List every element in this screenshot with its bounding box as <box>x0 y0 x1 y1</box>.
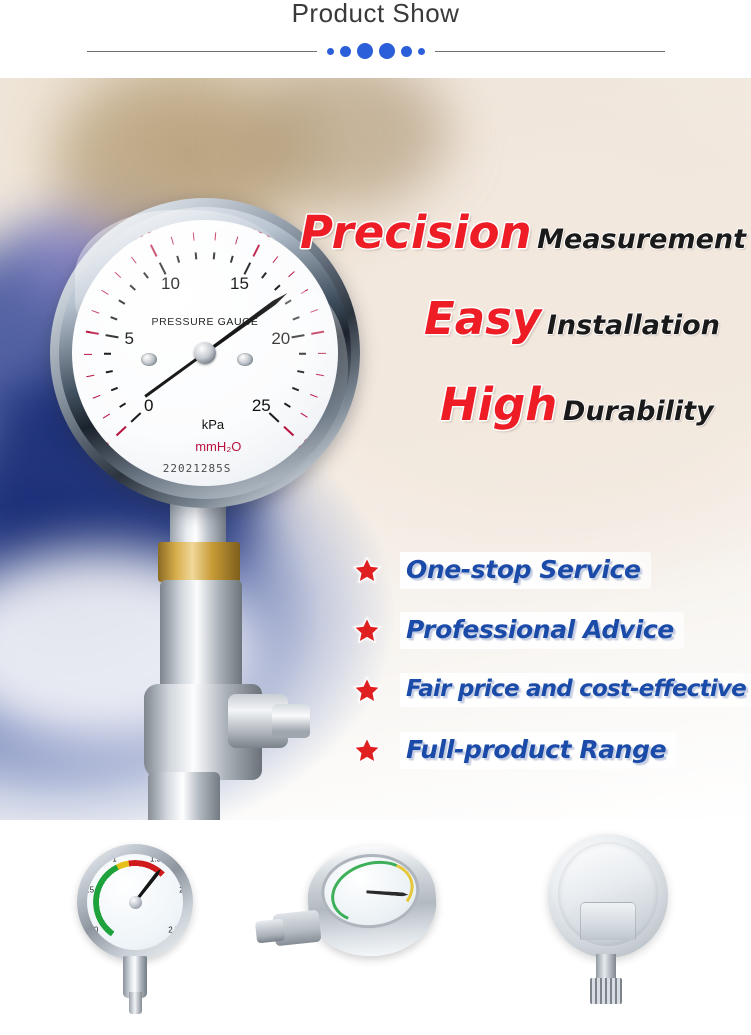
thumb1-scale-value: 2 <box>179 886 183 895</box>
feature-bullet-item: One-stop Service <box>352 540 751 600</box>
gauge-face: 051015202505001000150020002500 PRESSURE … <box>72 220 338 486</box>
feature-bullet-banner: Professional Advice <box>400 612 684 649</box>
headline-3-weak: Durability <box>563 396 714 427</box>
gauge-scale-value: 0 <box>144 396 153 416</box>
gauge-screw-left <box>141 353 157 366</box>
gauge-scale-value: 5 <box>124 329 133 349</box>
gauge-scale-value: 2000 <box>328 310 338 348</box>
feature-bullet-list: One-stop Service Professional Advice Fai… <box>352 540 751 780</box>
product-thumbnail-strip: 00.511.522.5 <box>0 820 751 1035</box>
thumb2-connector-tip <box>255 919 285 944</box>
thumb3-case <box>548 834 668 958</box>
divider-dot-1 <box>327 48 334 55</box>
page-header: Product Show <box>0 0 751 78</box>
valve-brass-hex <box>158 542 240 582</box>
star-icon <box>352 736 382 765</box>
thumb1-scale-value: 1.5 <box>150 854 161 863</box>
thumbnail-angled-view-gauge[interactable] <box>258 820 488 1035</box>
valve-stem <box>148 772 220 820</box>
feature-bullet-label: One-stop Service <box>406 555 641 584</box>
gauge-scale-value: 25 <box>252 396 271 416</box>
thumb1-scale-value: 0.5 <box>87 886 94 895</box>
gauge-unit-primary: kPa <box>202 417 224 432</box>
valve-body <box>136 498 286 820</box>
feature-bullet-item: Professional Advice <box>352 600 751 660</box>
divider-dot-5 <box>401 46 412 57</box>
feature-bullet-banner: Full-product Range <box>400 732 676 769</box>
thumb2-case <box>304 842 439 961</box>
feature-bullet-banner: Fair price and cost-effective <box>400 673 751 707</box>
feature-bullet-label: Professional Advice <box>406 615 674 644</box>
headline-1-strong: Precision <box>300 206 532 259</box>
feature-bullet-label: Fair price and cost-effective <box>406 676 746 702</box>
thumb1-scale-value: 0 <box>94 926 98 935</box>
headline-2-strong: Easy <box>424 292 541 345</box>
thumb1-scale-value: 2.5 <box>168 926 179 935</box>
headline-3-strong: High <box>440 378 557 431</box>
gauge-needle-hub <box>194 342 216 364</box>
gauge-scale-value: 15 <box>230 274 249 294</box>
thumb1-hub <box>129 896 142 909</box>
divider-rule-right <box>435 51 665 52</box>
thumb1-connector-tip <box>129 992 142 1014</box>
thumbnail-rear-view-gauge[interactable] <box>492 820 722 1035</box>
gauge-scale-value: 500 <box>72 314 81 343</box>
thumb2-face <box>319 851 422 932</box>
divider-dot-2 <box>340 46 351 57</box>
feature-bullet-item: Fair price and cost-effective <box>352 660 751 720</box>
star-icon <box>352 616 382 645</box>
feature-bullet-item: Full-product Range <box>352 720 751 780</box>
thumb1-face: 00.511.522.5 <box>87 854 183 950</box>
headline-easy: Easy Installation <box>424 296 720 341</box>
gauge-screw-right <box>237 353 253 366</box>
headline-1-weak: Measurement <box>537 224 746 255</box>
thumb3-threaded-nut <box>590 978 622 1004</box>
star-icon <box>352 676 382 705</box>
thumbnail-front-view-gauge[interactable]: 00.511.522.5 <box>25 820 255 1035</box>
gauge-scale-value: 20 <box>271 329 290 349</box>
feature-bullet-label: Full-product Range <box>406 735 666 764</box>
valve-upper-body <box>160 580 242 698</box>
headline-precision: Precision Measurement <box>300 210 746 255</box>
gauge-scale-value: 10 <box>161 274 180 294</box>
feature-bullet-banner: One-stop Service <box>400 552 651 589</box>
thumb1-scale-value: 1 <box>112 854 116 863</box>
background-blur-tan-2 <box>250 78 450 208</box>
headline-high: High Durability <box>440 382 714 427</box>
decorative-divider <box>0 40 751 62</box>
divider-rule-left <box>87 51 317 52</box>
divider-dot-4 <box>379 43 395 59</box>
thumb3-back-lid <box>558 842 658 946</box>
thumb3-relief-tab <box>580 902 636 940</box>
headline-2-weak: Installation <box>547 310 720 341</box>
product-gauge-assembly: 051015202505001000150020002500 PRESSURE … <box>40 198 370 820</box>
page-title: Product Show <box>0 0 751 29</box>
divider-dot-3 <box>357 43 373 59</box>
valve-outlet-tip <box>272 704 310 738</box>
divider-dot-6 <box>418 48 425 55</box>
star-icon <box>352 556 382 585</box>
divider-dots <box>327 43 425 59</box>
gauge-unit-secondary: mmH₂O <box>195 439 241 454</box>
hero-banner: 051015202505001000150020002500 PRESSURE … <box>0 78 751 820</box>
gauge-serial-number: 22021285S <box>163 462 232 475</box>
thumb1-case: 00.511.522.5 <box>77 844 193 960</box>
